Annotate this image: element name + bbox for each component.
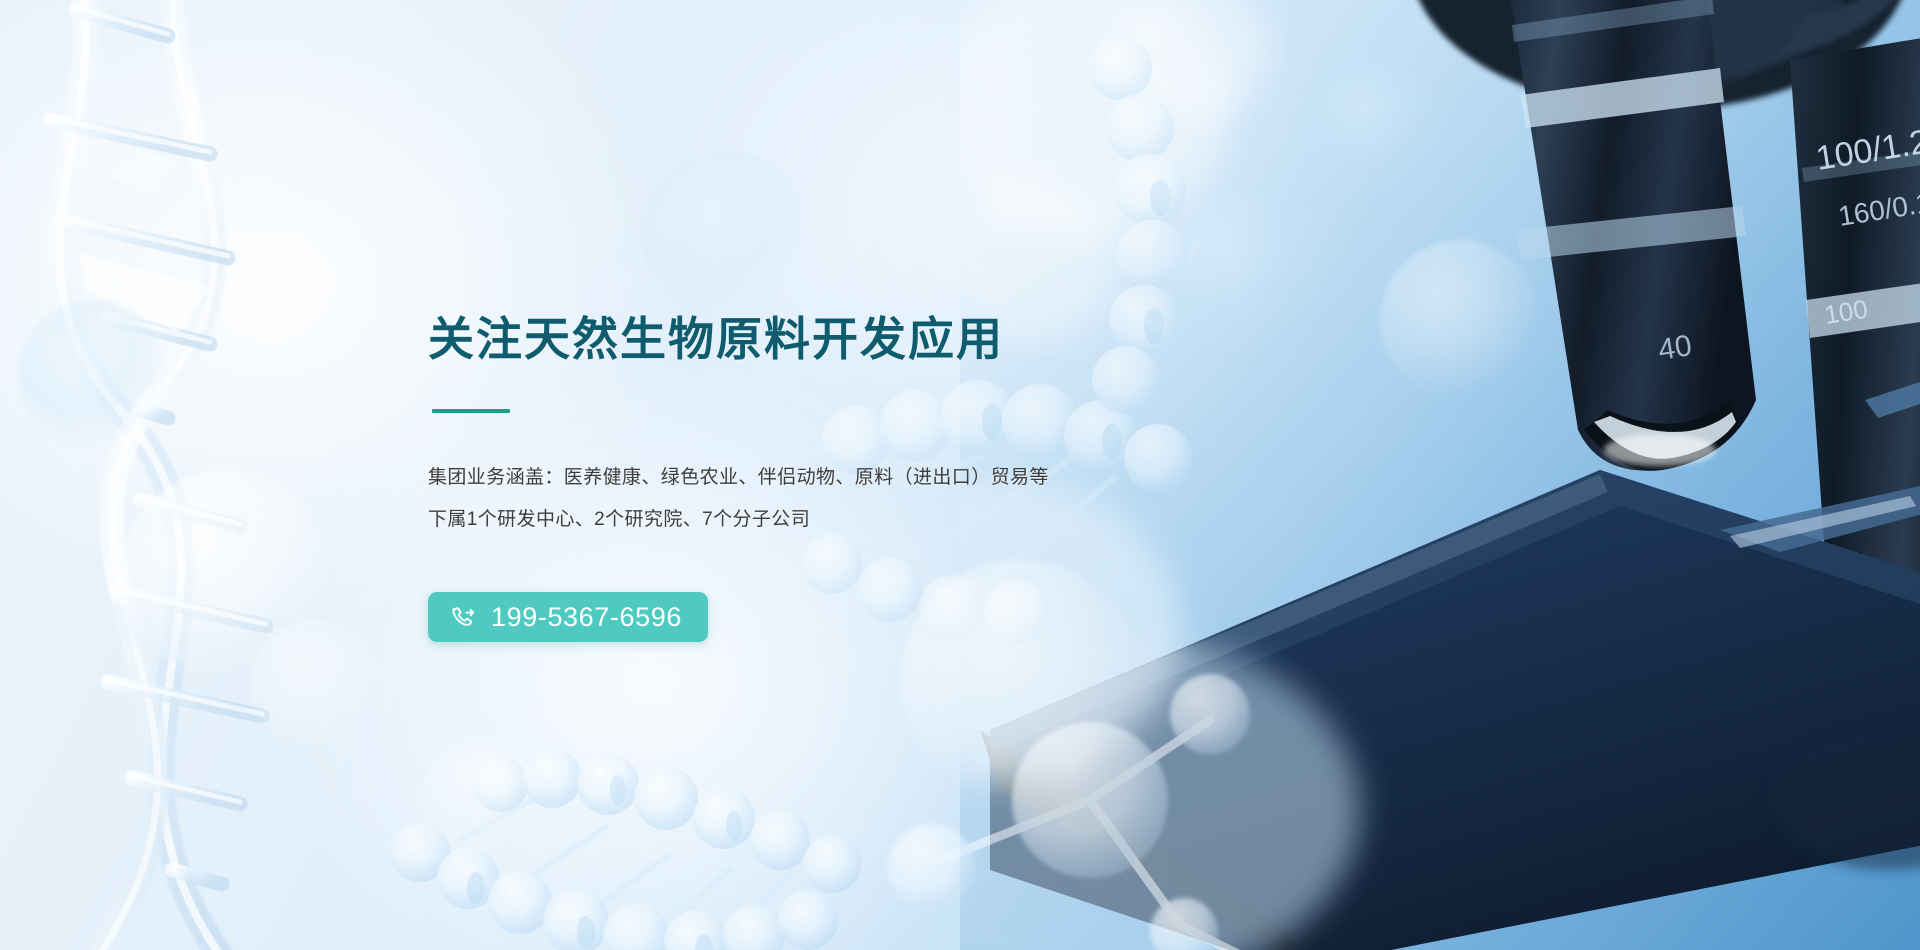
- svg-text:40: 40: [1656, 329, 1694, 367]
- page-title: 关注天然生物原料开发应用: [428, 312, 1188, 367]
- hero-banner: 40 100/1.25 160/0.17 100: [0, 0, 1920, 950]
- hero-content: 关注天然生物原料开发应用 集团业务涵盖：医养健康、绿色农业、伴侣动物、原料（进出…: [428, 312, 1188, 642]
- phone-forwarded-icon: [450, 603, 478, 631]
- description-line-1: 集团业务涵盖：医养健康、绿色农业、伴侣动物、原料（进出口）贸易等: [428, 457, 1188, 498]
- hero-description: 集团业务涵盖：医养健康、绿色农业、伴侣动物、原料（进出口）贸易等 下属1个研发中…: [428, 457, 1188, 540]
- description-line-2: 下属1个研发中心、2个研究院、7个分子公司: [428, 499, 1188, 540]
- phone-cta-button[interactable]: 199-5367-6596: [428, 592, 708, 642]
- phone-number-label: 199-5367-6596: [491, 604, 682, 631]
- title-underline-divider: [432, 409, 510, 413]
